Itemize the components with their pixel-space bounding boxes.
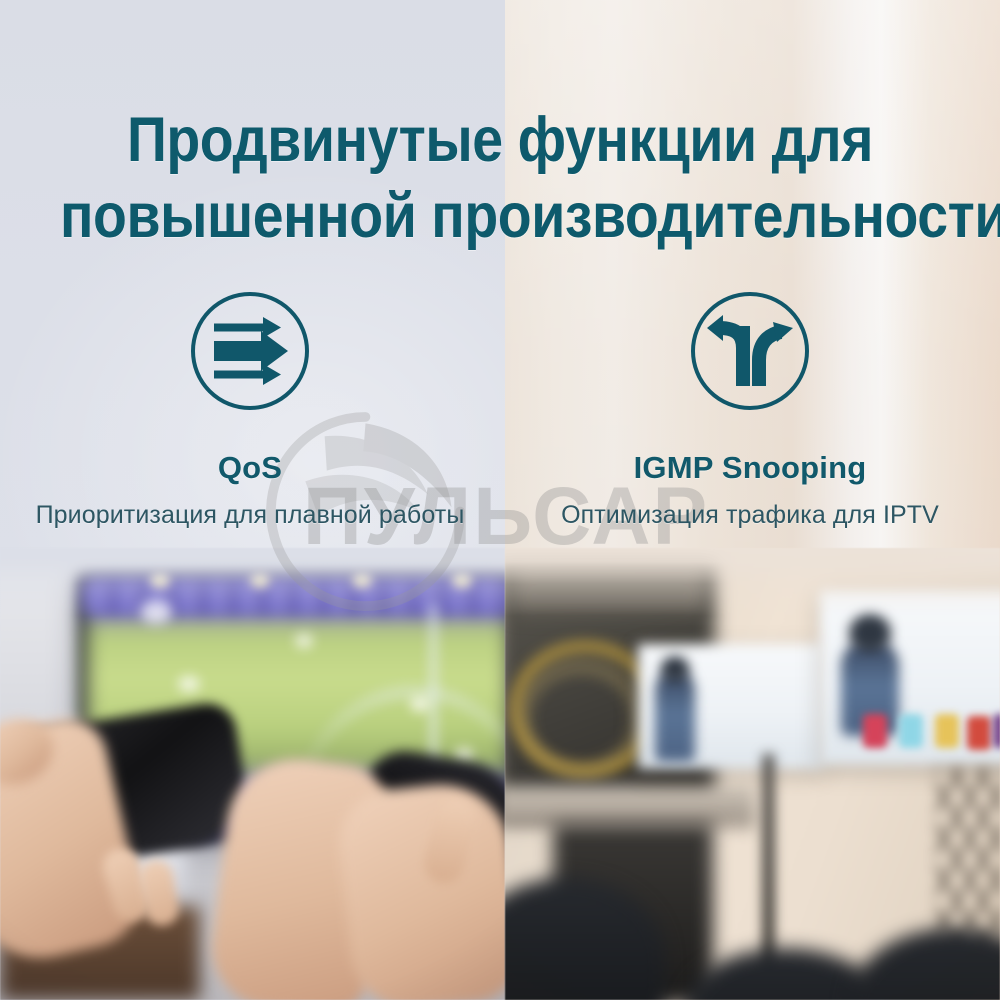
gaming-console-photo [0, 548, 505, 1000]
feature-title-igmp: IGMP Snooping [634, 450, 867, 486]
feature-qos: QoS Приоритизация для плавной работы [0, 290, 500, 530]
page-title: Продвинутые функции для повышенной произ… [0, 0, 1000, 254]
gaming-scene [0, 548, 505, 1000]
page-title-line-2: повышенной производительности [60, 178, 940, 254]
feature-title-qos: QoS [218, 450, 282, 486]
promo-banner: ПУЛЬСАР Продвинутые функции для повышенн… [0, 0, 1000, 1000]
photo-vignette [505, 548, 1000, 1000]
showroom-scene [505, 548, 1000, 1000]
feature-subtitle-igmp: Оптимизация трафика для IPTV [561, 501, 939, 530]
page-title-line-1: Продвинутые функции для [60, 102, 940, 178]
branching-arrows-icon [689, 290, 811, 412]
feature-subtitle-qos: Приоритизация для плавной работы [36, 501, 465, 530]
feature-igmp-snooping: IGMP Snooping Оптимизация трафика для IP… [500, 290, 1000, 530]
photo-strip [0, 548, 1000, 1000]
priority-arrows-icon [189, 290, 311, 412]
photo-vignette [0, 548, 505, 1000]
tv-showroom-photo [505, 548, 1000, 1000]
feature-list: QoS Приоритизация для плавной работы [0, 290, 1000, 530]
